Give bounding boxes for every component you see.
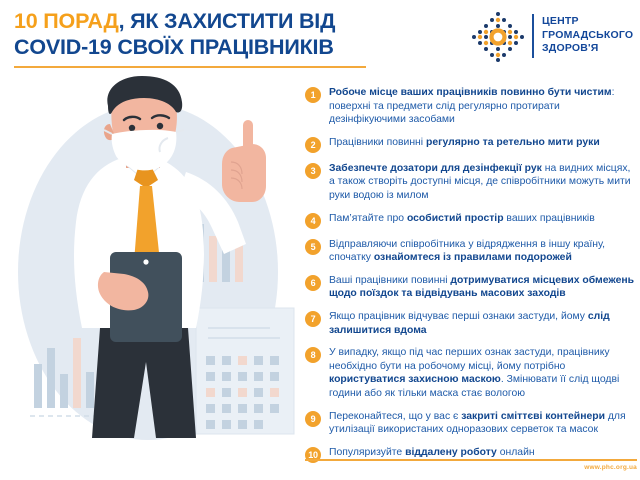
tip-text: Працівники повинні регулярно та ретельно… (329, 136, 637, 150)
tip-number-badge: 9 (305, 411, 321, 427)
tip-number-badge: 6 (305, 275, 321, 291)
tip-text: У випадку, якщо під час перших ознак зас… (329, 346, 637, 400)
background-calendar (196, 308, 294, 434)
tip-item: 8У випадку, якщо під час перших ознак за… (305, 346, 637, 400)
logo-line-2: ГРОМАДСЬКОГО (542, 29, 633, 43)
tip-text: Пам’ятайте про особистий простір ваших п… (329, 212, 637, 226)
page-title: 10 ПОРАД, ЯК ЗАХИСТИТИ ВІД COVID-19 СВОЇ… (14, 8, 464, 60)
logo-wordmark: ЦЕНТР ГРОМАДСЬКОГО ЗДОРОВ'Я (542, 15, 633, 56)
logo-line-1: ЦЕНТР (542, 15, 633, 29)
tip-number-badge: 1 (305, 87, 321, 103)
title-divider (14, 66, 366, 68)
tip-number-badge: 5 (305, 239, 321, 255)
logo-separator (532, 14, 534, 58)
tip-item: 3Забезпечте дозатори для дезінфекції рук… (305, 162, 637, 203)
raised-index-finger-hand (222, 120, 266, 202)
tip-text: Робоче місце ваших працівників повинно б… (329, 86, 637, 127)
tip-text: Ваші працівники повинні дотримуватися мі… (329, 274, 637, 301)
tip-number-badge: 2 (305, 137, 321, 153)
title-line-1-rest: , ЯК ЗАХИСТИТИ ВІД (119, 9, 336, 33)
tip-number-badge: 4 (305, 213, 321, 229)
tip-item: 9Переконайтеся, що у вас є закриті смітт… (305, 410, 637, 437)
header: 10 ПОРАД, ЯК ЗАХИСТИТИ ВІД COVID-19 СВОЇ… (0, 0, 640, 74)
footer-url[interactable]: www.phc.org.ua (584, 464, 637, 471)
hero-illustration (0, 76, 300, 456)
tip-number-badge: 7 (305, 311, 321, 327)
title-line-1: 10 ПОРАД, ЯК ЗАХИСТИТИ ВІД (14, 8, 464, 34)
tip-text: Переконайтеся, що у вас є закриті сміттє… (329, 410, 637, 437)
tip-text: Відправляючи співробітника у відрядження… (329, 238, 637, 265)
tip-item: 7Якщо працівник відчуває перші ознаки за… (305, 310, 637, 337)
tip-number-badge: 8 (305, 347, 321, 363)
organization-logo[interactable]: ЦЕНТР ГРОМАДСЬКОГО ЗДОРОВ'Я (470, 8, 630, 66)
logo-line-3: ЗДОРОВ'Я (542, 42, 633, 56)
tip-item: 5Відправляючи співробітника у відрядженн… (305, 238, 637, 265)
tips-list: 1Робоче місце ваших працівників повинно … (305, 86, 637, 472)
tip-item: 4Пам’ятайте про особистий простір ваших … (305, 212, 637, 229)
tip-number-badge: 3 (305, 163, 321, 179)
tip-item: 2Працівники повинні регулярно та ретельн… (305, 136, 637, 153)
footer-divider (305, 459, 637, 461)
tip-item: 6Ваші працівники повинні дотримуватися м… (305, 274, 637, 301)
tablet-camera (143, 259, 148, 264)
title-highlight: 10 ПОРАД (14, 9, 119, 33)
tip-text: Забезпечте дозатори для дезінфекції рук … (329, 162, 637, 203)
tip-item: 1Робоче місце ваших працівників повинно … (305, 86, 637, 127)
title-line-2: COVID-19 СВОЇХ ПРАЦІВНИКІВ (14, 34, 464, 60)
tip-text: Якщо працівник відчуває перші ознаки зас… (329, 310, 637, 337)
tip-text: Популяризуйте віддалену роботу онлайн (329, 446, 637, 460)
dot-diamond-logo-icon (470, 10, 526, 64)
